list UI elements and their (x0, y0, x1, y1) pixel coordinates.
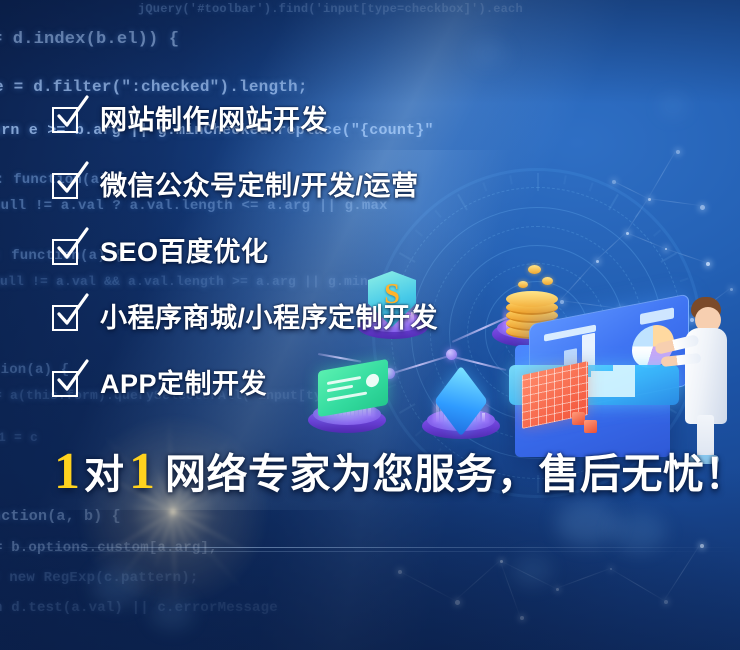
checkbox-checked-icon (52, 303, 82, 333)
constellation-dot (610, 568, 612, 570)
constellation-dot (520, 616, 524, 620)
feature-list: 网站制作/网站开发微信公众号定制/开发/运营SEO百度优化小程序商城/小程序定制… (52, 98, 692, 428)
checkbox-checked-icon (52, 237, 82, 267)
bokeh-light (612, 512, 666, 552)
constellation-dot (664, 600, 668, 604)
feature-item: SEO百度优化 (52, 230, 692, 274)
scan-line (0, 547, 740, 548)
constellation-line (610, 568, 665, 601)
bokeh-light (512, 556, 552, 586)
code-line: = d.index(b.el)) { (0, 30, 179, 49)
constellation-line (455, 560, 501, 601)
feature-label: 小程序商城/小程序定制开发 (100, 305, 438, 332)
constellation-line (556, 568, 610, 589)
code-line: 1 = c (0, 430, 38, 445)
feature-item: 微信公众号定制/开发/运营 (52, 164, 692, 208)
slogan-number-second: 1 (125, 446, 159, 498)
bokeh-light (470, 40, 508, 68)
slogan-line: 1 对 1 网络专家为您服务，售后无忧！ (50, 446, 740, 498)
feature-item: 网站制作/网站开发 (52, 98, 692, 142)
constellation-line (398, 570, 455, 601)
constellation-dot (455, 600, 460, 605)
bokeh-light (556, 500, 618, 546)
constellation-line (500, 560, 556, 589)
slogan-tail-text: 网络专家为您服务，售后无忧！ (165, 454, 740, 495)
feature-label: APP定制开发 (100, 371, 267, 398)
slogan-word: 对 (84, 455, 125, 495)
slogan-number-first: 1 (50, 446, 84, 498)
constellation-line (664, 544, 701, 601)
checkbox-checked-icon (52, 105, 82, 135)
constellation-dot (500, 560, 503, 563)
lens-flare (58, 396, 288, 626)
feature-item: APP定制开发 (52, 362, 692, 406)
feature-label: SEO百度优化 (100, 239, 269, 266)
constellation-dot (556, 588, 559, 591)
scan-line (0, 551, 740, 552)
feature-label: 微信公众号定制/开发/运营 (100, 173, 419, 200)
checkbox-checked-icon (52, 171, 82, 201)
constellation-line (500, 560, 521, 616)
checkbox-checked-icon (52, 369, 82, 399)
feature-label: 网站制作/网站开发 (100, 107, 328, 134)
feature-item: 小程序商城/小程序定制开发 (52, 296, 692, 340)
code-line: jQuery('#toolbar').find('input[type=chec… (138, 2, 523, 16)
constellation-dot (398, 570, 402, 574)
promo-banner: jQuery('#toolbar').find('input[type=chec… (0, 0, 740, 650)
code-line: e = d.filter(":checked").length; (0, 78, 308, 96)
